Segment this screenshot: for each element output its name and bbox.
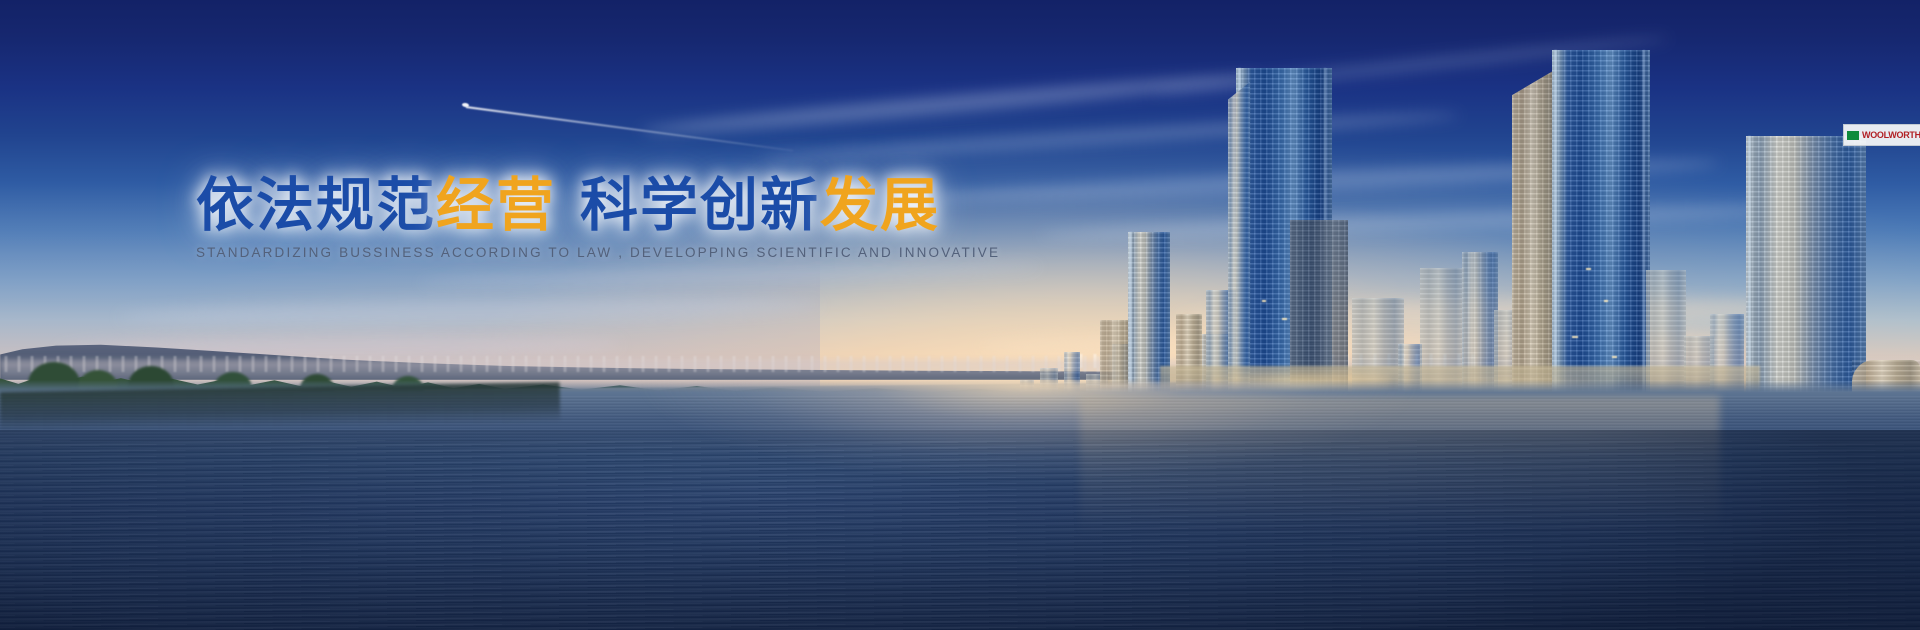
water-vignette xyxy=(0,430,1920,630)
lit-window xyxy=(1262,300,1266,302)
lit-window xyxy=(1586,268,1591,270)
headline-segment-1: 依法规范 xyxy=(196,171,436,239)
hero-banner: WOOLWORTH 依法规范经营科学创新发展 STANDARDIZING BUS… xyxy=(0,0,1920,630)
lit-window xyxy=(1282,318,1287,320)
lit-window xyxy=(1604,300,1608,302)
headline-segment-4: 发展 xyxy=(820,171,940,239)
woolworth-sign-text: WOOLWORTH xyxy=(1862,130,1920,140)
headline-segment-2: 经营 xyxy=(436,171,556,239)
lit-window xyxy=(1572,336,1578,338)
lit-window xyxy=(1612,356,1617,358)
headline-segment-3: 科学创新 xyxy=(580,171,820,239)
banner-headline: 依法规范经营科学创新发展 xyxy=(196,176,940,234)
banner-subtitle: STANDARDIZING BUSSINESS ACCORDING TO LAW… xyxy=(196,245,1000,260)
woolworth-logo-icon xyxy=(1847,131,1859,140)
woolworth-signboard: WOOLWORTH xyxy=(1843,124,1920,146)
